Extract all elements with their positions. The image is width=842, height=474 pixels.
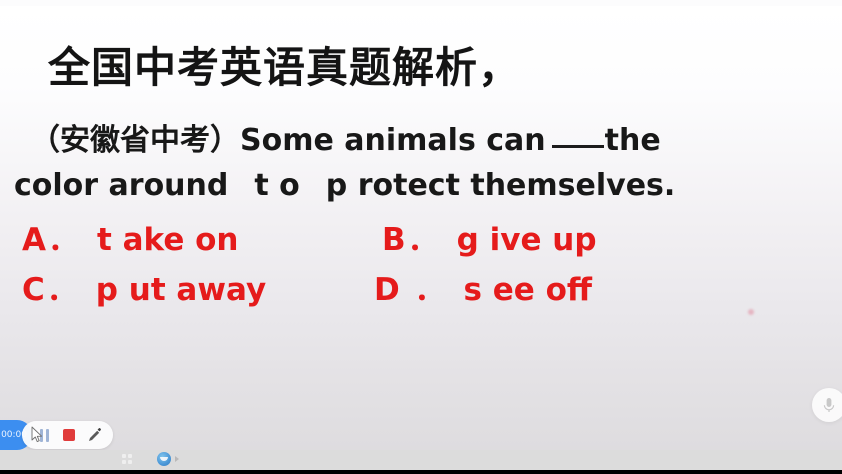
cursor-artifact-dot	[748, 309, 754, 315]
screen-capture: 全国中考英语真题解析， （安徽省中考）Some animals canthe c…	[0, 0, 842, 474]
option-a-key: A．	[22, 222, 81, 258]
answer-blank	[552, 145, 604, 148]
option-c[interactable]: C．p ut away	[22, 264, 266, 309]
question-line2-part2: t o	[254, 168, 299, 203]
taskbar-icons	[122, 452, 179, 466]
apps-grid-icon	[122, 454, 133, 465]
slide-canvas: 全国中考英语真题解析， （安徽省中考）Some animals canthe c…	[0, 6, 842, 450]
option-d-text: s ee off	[464, 272, 593, 308]
question-line-1: （安徽省中考）Some animals canthe	[14, 118, 830, 163]
question-line-2: color aroundt op rotect themselves.	[14, 163, 830, 208]
letterbox-bottom	[0, 470, 842, 474]
mouse-cursor-icon	[31, 426, 43, 444]
microphone-button[interactable]	[812, 388, 842, 422]
annotate-button[interactable]	[86, 427, 102, 443]
option-d-key: D ．	[374, 272, 448, 308]
options-row-1: A．t ake on B．g ive up	[14, 214, 830, 264]
question-text-after-blank: the	[605, 123, 661, 158]
microphone-icon	[821, 396, 837, 414]
taskbar-item-apps[interactable]	[122, 454, 133, 465]
recorder-toolbar[interactable]: 00:00	[0, 420, 113, 450]
options-row-2: C．p ut away D ．s ee off	[14, 264, 830, 314]
option-b[interactable]: B．g ive up	[382, 214, 597, 259]
option-c-key: C．	[22, 272, 80, 308]
stop-button[interactable]	[61, 427, 77, 443]
option-b-text: g ive up	[457, 222, 597, 258]
chevron-right-icon	[175, 456, 179, 462]
question-line2-part1: color around	[14, 168, 228, 203]
option-c-text: p ut away	[96, 272, 266, 308]
question-text-before-blank: Some animals can	[240, 123, 546, 158]
option-d[interactable]: D ．s ee off	[374, 264, 592, 309]
option-a[interactable]: A．t ake on	[22, 214, 239, 259]
option-a-text: t ake on	[97, 222, 239, 258]
question-block: （安徽省中考）Some animals canthe color aroundt…	[14, 118, 830, 208]
pencil-icon	[87, 428, 102, 443]
slide-title: 全国中考英语真题解析，	[48, 34, 521, 95]
edge-browser-icon	[157, 452, 171, 466]
question-line2-part3: p rotect themselves.	[326, 168, 676, 203]
question-source-tag: （安徽省中考）	[30, 123, 240, 158]
stop-icon	[63, 429, 75, 441]
option-b-key: B．	[382, 222, 441, 258]
options-block: A．t ake on B．g ive up C．p ut away D ．s e…	[14, 214, 830, 314]
taskbar-item-edge[interactable]	[157, 452, 179, 466]
